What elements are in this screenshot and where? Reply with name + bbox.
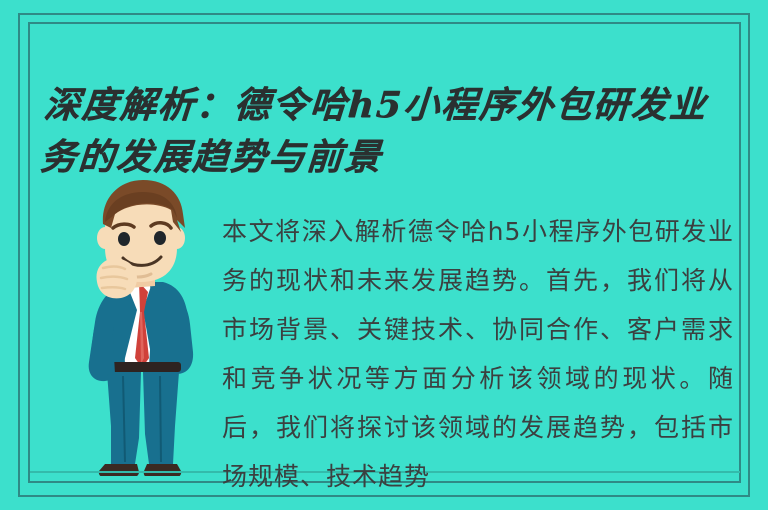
shoe-right — [144, 464, 181, 476]
ear-left — [97, 227, 113, 249]
trousers-crease-2 — [160, 376, 161, 462]
eye-right — [154, 231, 166, 245]
shoe-left — [99, 464, 139, 476]
article-summary-text: 本文将深入解析德令哈h5小程序外包研发业务的现状和未来发展趋势。首先，我们将从市… — [222, 207, 734, 507]
belt — [105, 362, 181, 372]
page-title: 深度解析：德令哈h5小程序外包研发业务的发展趋势与前景 — [38, 79, 745, 183]
ear-right — [169, 227, 185, 249]
thinking-businessman-illustration — [45, 176, 225, 476]
article-banner: 深度解析：德令哈h5小程序外包研发业务的发展趋势与前景 本文将深入解析德令哈h5… — [0, 0, 768, 510]
eye-left — [118, 232, 130, 246]
